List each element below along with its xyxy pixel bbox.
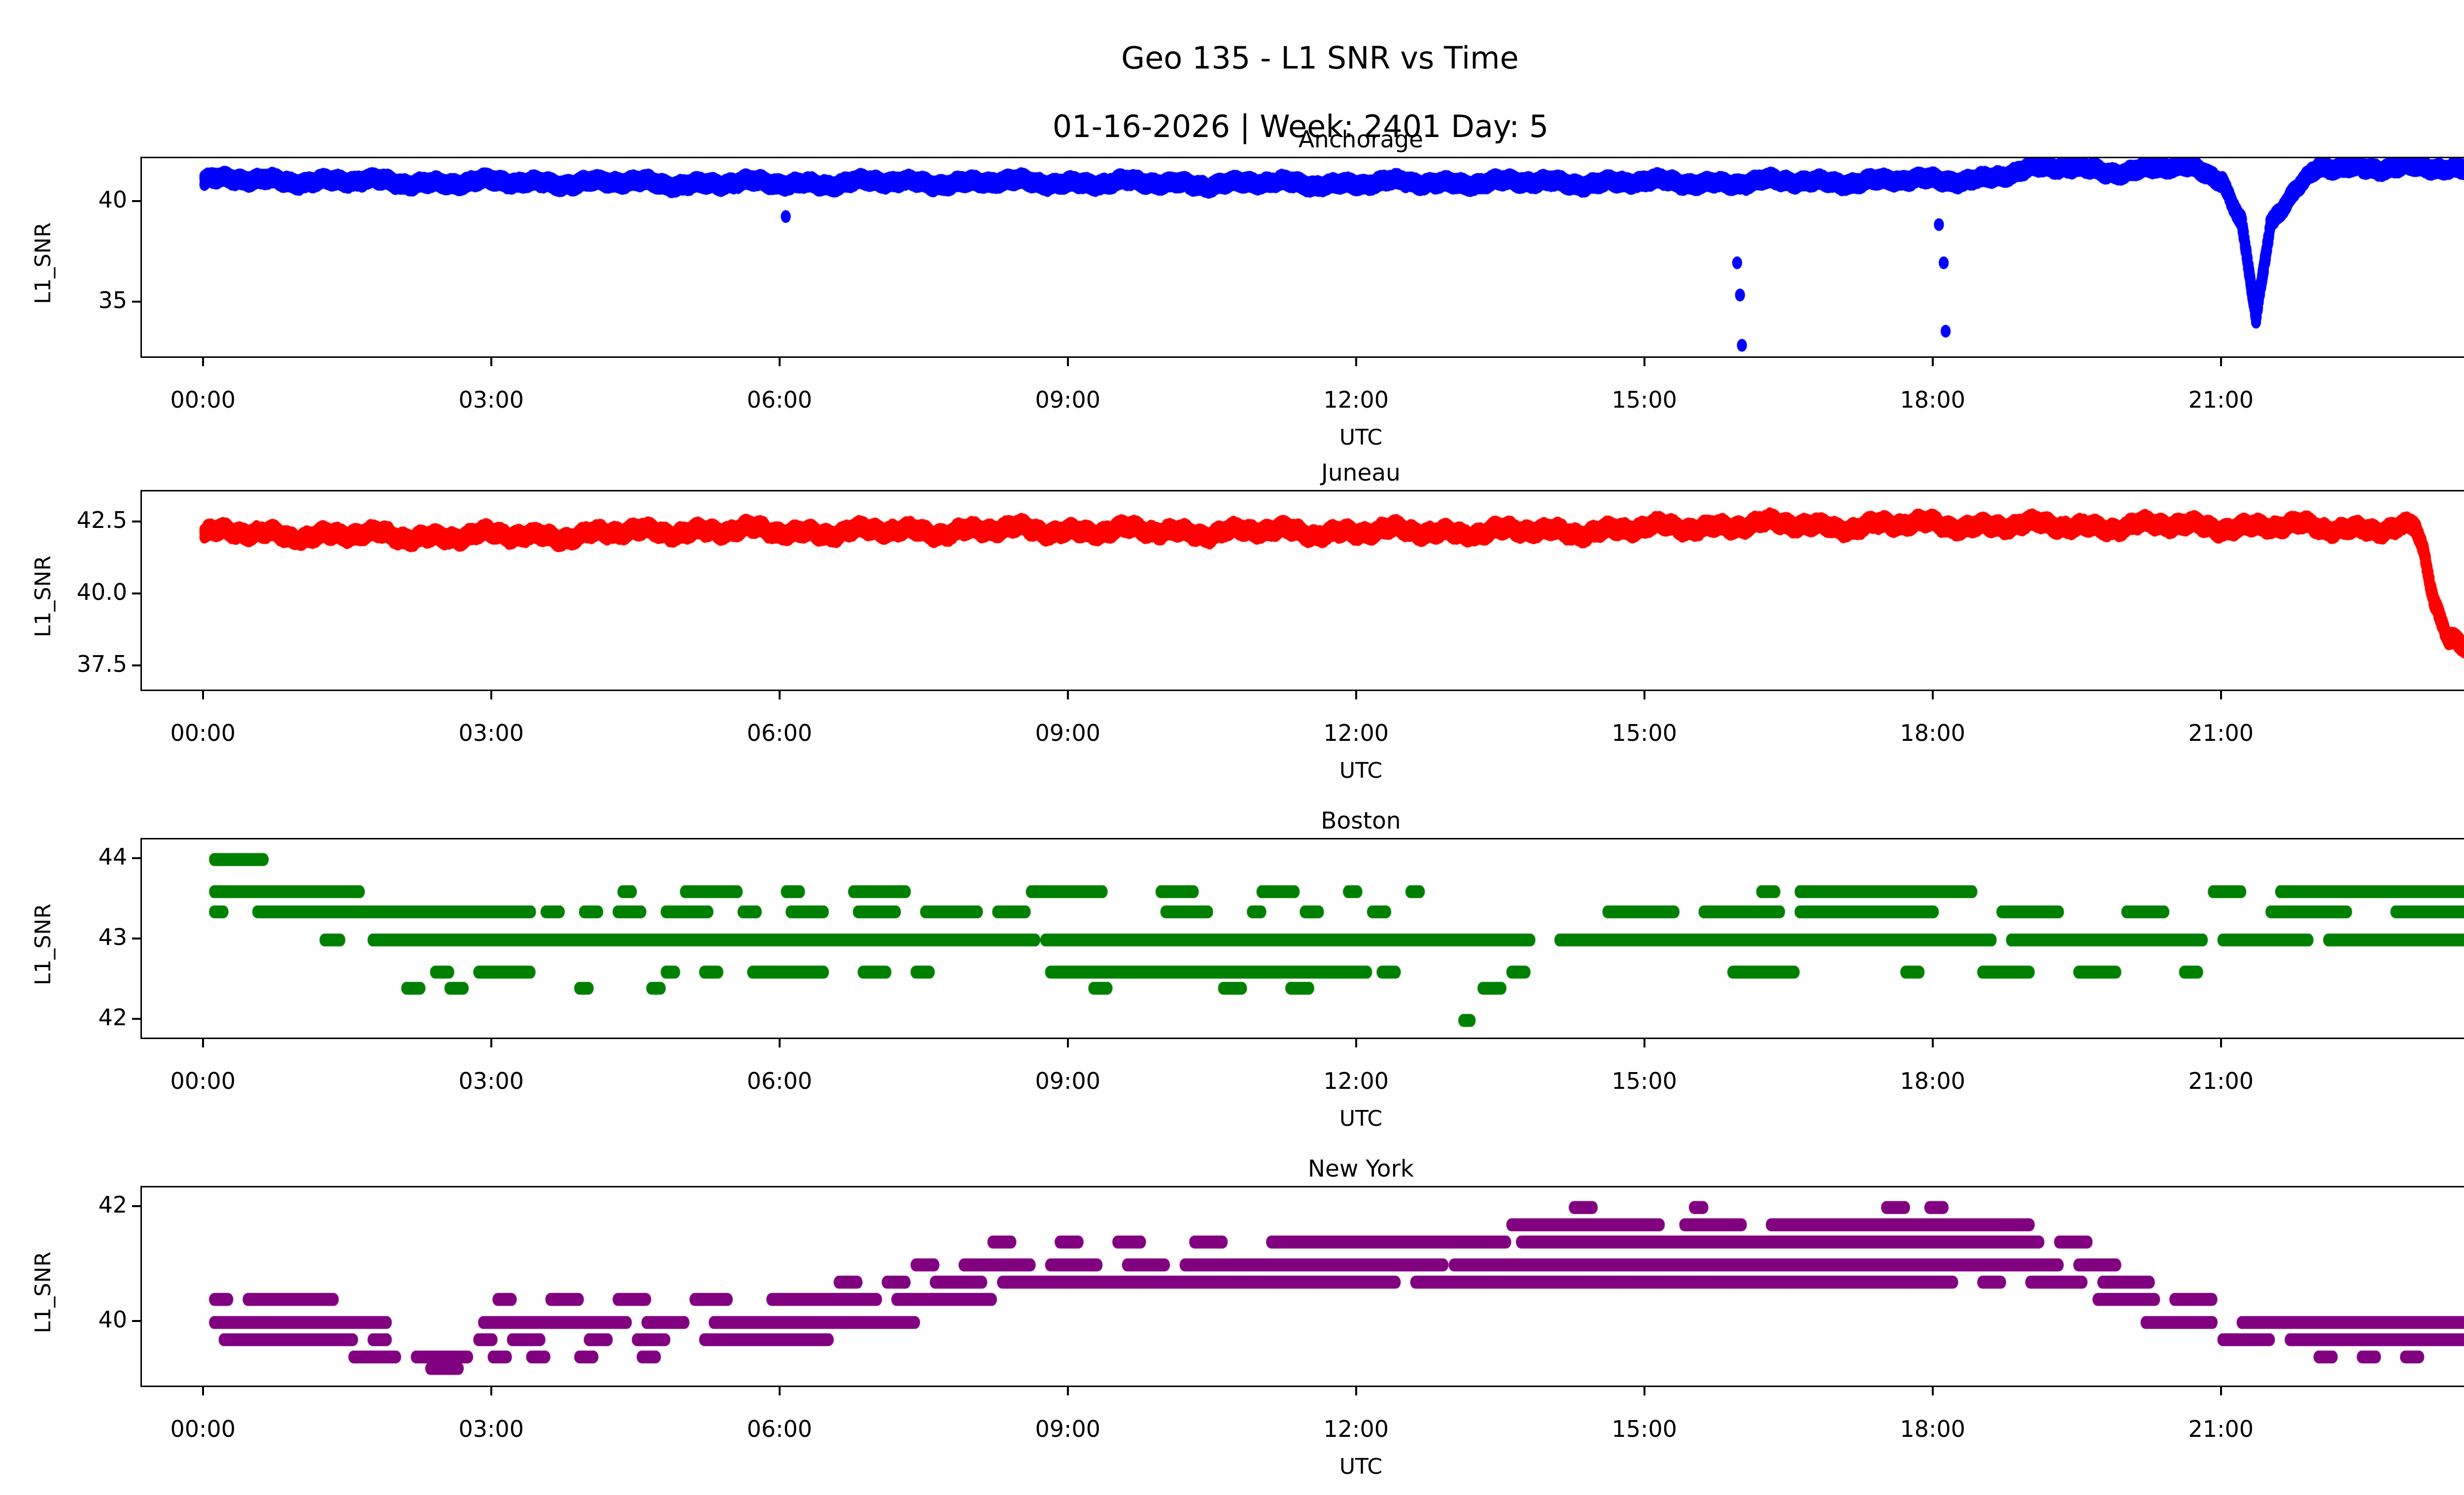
x-tick-mark — [202, 1387, 204, 1395]
x-tick-label: 15:00 — [1546, 1416, 1743, 1442]
panel-new-york: New York4042L1_SNR00:0003:0006:0009:0012… — [0, 0, 2464, 1495]
x-tick-mark — [1932, 1387, 1934, 1395]
x-tick-label: 00:00 — [104, 1416, 302, 1442]
axes-new-york — [140, 1186, 2464, 1387]
x-tick-label: 09:00 — [969, 1416, 1166, 1442]
x-tick-mark — [1643, 1387, 1645, 1395]
x-tick-mark — [1355, 1387, 1357, 1395]
x-tick-label: 21:00 — [2122, 1416, 2320, 1442]
x-tick-label: 18:00 — [1834, 1416, 2031, 1442]
panel-title-new-york: New York — [140, 1155, 2464, 1182]
x-tick-label: 12:00 — [1258, 1416, 1455, 1442]
y-tick-mark — [132, 1320, 140, 1322]
x-tick-mark — [779, 1387, 781, 1395]
x-tick-mark — [2220, 1387, 2222, 1395]
x-axis-label: UTC — [140, 1454, 2464, 1479]
x-tick-label: 06:00 — [681, 1416, 878, 1442]
x-tick-label: 03:00 — [393, 1416, 590, 1442]
x-tick-label: 00:00 — [2411, 1416, 2464, 1442]
scatter-points-new-york — [142, 1187, 2464, 1387]
figure-canvas: Geo 135 - L1 SNR vs Time 01-16-2026 | We… — [0, 0, 2464, 1495]
y-axis-label: L1_SNR — [31, 1252, 56, 1333]
y-tick-mark — [132, 1205, 140, 1207]
x-tick-mark — [490, 1387, 492, 1395]
x-tick-mark — [1067, 1387, 1069, 1395]
y-tick-label: 40 — [0, 1306, 127, 1333]
y-tick-label: 42 — [0, 1191, 127, 1218]
